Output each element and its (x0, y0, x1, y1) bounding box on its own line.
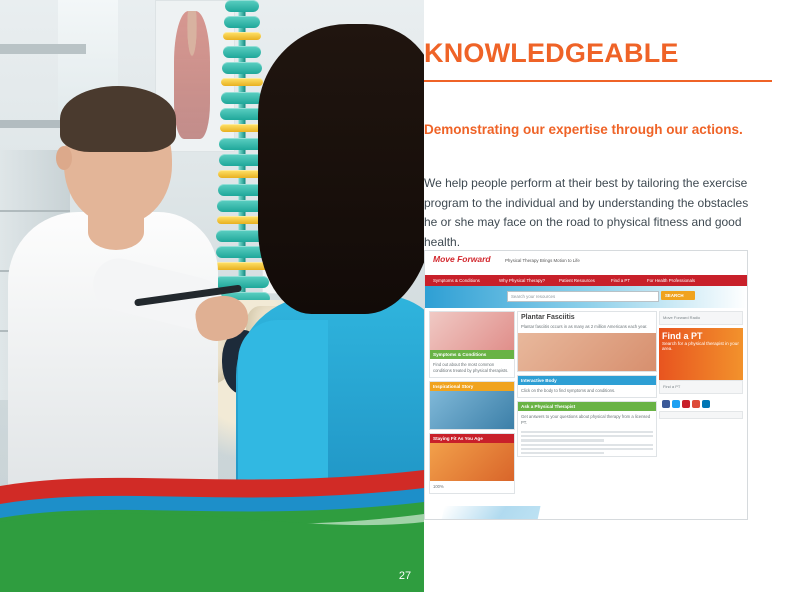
therapist-collar (88, 214, 144, 250)
brochure-page: KNOWLEDGEABLE Demonstrating our expertis… (0, 0, 810, 592)
search-placeholder: Search your resources (511, 294, 555, 299)
card-header: Inspirational Story (430, 382, 514, 391)
card-header: Symptoms & Conditions (430, 350, 514, 359)
website-nav: Symptoms & Conditions Why Physical Thera… (425, 275, 747, 286)
website-tagline: Physical Therapy Brings Motion to Life (505, 258, 580, 263)
content-panel: KNOWLEDGEABLE Demonstrating our expertis… (424, 0, 810, 592)
website-header: Move Forward Physical Therapy Brings Mot… (425, 251, 747, 275)
card-ask-a-pt: Ask a Physical Therapist Get answers to … (517, 401, 657, 457)
body-paragraph: We help people perform at their best by … (424, 174, 754, 252)
nav-item-why-pt: Why Physical Therapy? (499, 278, 545, 283)
therapist-hair (60, 86, 176, 152)
website-center-column: Plantar Fasciitis Plantar fasciitis occu… (517, 311, 657, 460)
card-body: Find out about the most common condition… (430, 359, 514, 377)
card-symptoms: Symptoms & Conditions Find out about the… (429, 311, 515, 378)
website-screenshot: Move Forward Physical Therapy Brings Mot… (424, 250, 748, 520)
website-right-column: Move Forward Radio Find a PT Search for … (659, 311, 743, 422)
nav-item-symptoms: Symptoms & Conditions (433, 278, 480, 283)
card-thumbnail (430, 312, 514, 350)
card-body: Get answers to your questions about phys… (518, 411, 656, 429)
patient-hair (258, 24, 424, 314)
linkedin-icon (702, 400, 710, 408)
website-search-button: SEARCH (661, 291, 695, 300)
card-thumbnail (430, 391, 514, 429)
feature-article: Plantar Fasciitis Plantar fasciitis occu… (517, 311, 657, 372)
card-staying-fit: Staying Fit As You Age 100% (429, 433, 515, 494)
card-body: Click on the body to find symptoms and c… (518, 385, 656, 397)
find-a-pt-title: Find a PT (662, 331, 740, 341)
page-number: 27 (0, 570, 810, 582)
find-a-pt-subtitle: Search for a physical therapist in your … (662, 341, 739, 351)
website-search-input: Search your resources (507, 291, 659, 302)
find-a-pt-widget: Find a PT Search for a physical therapis… (659, 328, 743, 380)
search-button-label: SEARCH (665, 293, 684, 298)
card-header: Staying Fit As You Age (430, 434, 514, 443)
card-thumbnail (430, 443, 514, 481)
therapist-ear (56, 146, 72, 170)
card-header: Interactive Body (518, 376, 656, 385)
feature-title: Plantar Fasciitis (518, 312, 656, 321)
website-left-column: Symptoms & Conditions Find out about the… (429, 311, 515, 497)
section-subheading: Demonstrating our expertise through our … (424, 120, 744, 140)
blue-light-overlay (424, 506, 541, 520)
card-header: Ask a Physical Therapist (518, 402, 656, 411)
card-interactive-body: Interactive Body Click on the body to fi… (517, 375, 657, 398)
card-inspirational-story: Inspirational Story (429, 381, 515, 430)
twitter-icon (672, 400, 680, 408)
promo-tertiary (659, 411, 743, 419)
nav-item-find-pt: Find a PT (611, 278, 630, 283)
feature-subtitle: Plantar fasciitis occurs in as many as 2… (518, 321, 656, 333)
feature-image (518, 333, 656, 371)
google-plus-icon (692, 400, 700, 408)
promo-secondary: Find a PT (659, 380, 743, 394)
page-title: KNOWLEDGEABLE (424, 38, 772, 69)
wall-shelf (0, 44, 86, 54)
website-logo: Move Forward (433, 254, 491, 264)
social-links (659, 397, 743, 411)
title-underline (424, 80, 772, 82)
youtube-icon (682, 400, 690, 408)
nav-item-resources: Patient Resources (559, 278, 595, 283)
video-progress-label: 100% (430, 481, 514, 493)
facebook-icon (662, 400, 670, 408)
nav-item-health-pro: For Health Professionals (647, 278, 695, 283)
promo-move-forward-radio: Move Forward Radio (659, 311, 743, 325)
